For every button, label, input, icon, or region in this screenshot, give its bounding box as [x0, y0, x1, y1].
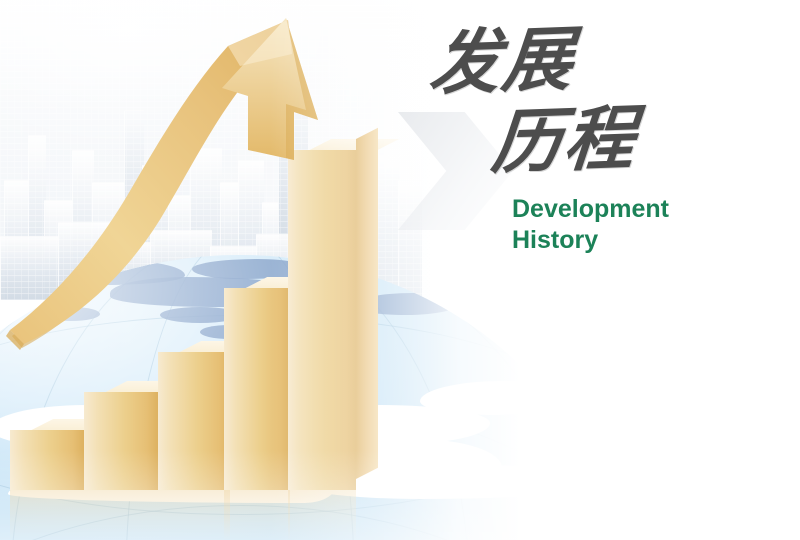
development-history-banner: 发展 历程 Development History: [0, 0, 800, 540]
growth-arrow-icon: [0, 0, 400, 360]
title-block: 发展 历程 Development History: [430, 22, 760, 256]
title-chinese-line-2: 历程: [488, 93, 764, 184]
title-english-line-2: History: [512, 225, 760, 256]
bar-1: [10, 430, 84, 490]
title-chinese-line-1: 发展: [426, 11, 765, 106]
bar-3: [158, 352, 230, 490]
title-english-line-1: Development: [512, 194, 760, 225]
bar-2: [84, 392, 158, 490]
